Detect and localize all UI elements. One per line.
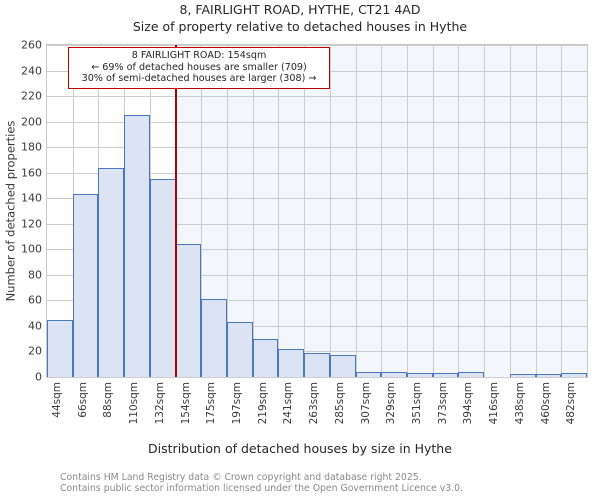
property-size-histogram: 8, FAIRLIGHT ROAD, HYTHE, CT21 4AD Size … [0, 0, 600, 500]
x-axis-title: Distribution of detached houses by size … [0, 441, 600, 456]
x-tick-label: 44sqm [51, 382, 63, 418]
property-marker-line [175, 45, 177, 377]
histogram-bar [510, 374, 536, 377]
footer-line-2: Contains public sector information licen… [60, 483, 580, 494]
footer-line-1: Contains HM Land Registry data © Crown c… [60, 472, 580, 483]
histogram-bar [253, 339, 279, 377]
chart-title-block: 8, FAIRLIGHT ROAD, HYTHE, CT21 4AD Size … [0, 2, 600, 35]
histogram-bar [561, 373, 587, 377]
histogram-bar [201, 299, 227, 377]
x-tick-label: 154sqm [180, 382, 192, 424]
histogram-bar [330, 355, 356, 377]
annotation-line-1: 8 FAIRLIGHT ROAD: 154sqm [72, 50, 326, 62]
x-tick-label: 438sqm [514, 382, 526, 424]
x-tick-label: 241sqm [282, 382, 294, 424]
x-tick-label: 197sqm [231, 382, 243, 424]
x-tick-label: 329sqm [385, 382, 397, 424]
chart-subtitle: Size of property relative to detached ho… [0, 18, 600, 35]
y-tick-label: 220 [2, 90, 42, 103]
y-tick-label: 260 [2, 39, 42, 52]
y-tick-label: 240 [2, 64, 42, 77]
x-tick-label: 175sqm [205, 382, 217, 424]
x-axis-ticks: 44sqm66sqm88sqm110sqm132sqm154sqm175sqm1… [46, 378, 588, 440]
x-tick-label: 66sqm [77, 382, 89, 418]
x-tick-label: 88sqm [102, 382, 114, 418]
y-tick-label: 160 [2, 166, 42, 179]
histogram-bar [407, 373, 433, 377]
x-tick-label: 219sqm [257, 382, 269, 424]
x-tick-label: 307sqm [360, 382, 372, 424]
x-tick-label: 416sqm [488, 382, 500, 424]
y-tick-label: 40 [2, 319, 42, 332]
annotation-line-2: ← 69% of detached houses are smaller (70… [72, 62, 326, 74]
histogram-bar [433, 373, 459, 377]
x-tick-label: 394sqm [462, 382, 474, 424]
histogram-bar [356, 372, 382, 377]
x-tick-label: 285sqm [334, 382, 346, 424]
attribution-footer: Contains HM Land Registry data © Crown c… [60, 472, 580, 494]
histogram-bar [458, 372, 484, 377]
y-axis-ticks: 020406080100120140160180200220240260 [0, 44, 42, 378]
x-tick-label: 373sqm [437, 382, 449, 424]
histogram-bar [536, 374, 562, 377]
histogram-bar [304, 353, 330, 377]
y-tick-label: 120 [2, 217, 42, 230]
x-tick-label: 351sqm [411, 382, 423, 424]
x-tick-label: 482sqm [565, 382, 577, 424]
x-tick-label: 460sqm [540, 382, 552, 424]
histogram-bar [278, 349, 304, 377]
histogram-bar [150, 179, 176, 377]
page-title: 8, FAIRLIGHT ROAD, HYTHE, CT21 4AD [0, 2, 600, 18]
property-annotation-box: 8 FAIRLIGHT ROAD: 154sqm ← 69% of detach… [68, 47, 330, 89]
y-tick-label: 180 [2, 141, 42, 154]
x-tick-label: 110sqm [128, 382, 140, 424]
y-tick-label: 20 [2, 345, 42, 358]
y-tick-label: 140 [2, 192, 42, 205]
x-tick-label: 132sqm [154, 382, 166, 424]
x-tick-label: 263sqm [308, 382, 320, 424]
histogram-bar [176, 244, 202, 377]
annotation-line-3: 30% of semi-detached houses are larger (… [72, 73, 326, 85]
histogram-bar [73, 194, 99, 377]
y-tick-label: 60 [2, 294, 42, 307]
y-tick-label: 100 [2, 243, 42, 256]
histogram-bars [47, 45, 587, 377]
histogram-bar [381, 372, 407, 377]
y-tick-label: 0 [2, 371, 42, 384]
histogram-bar [98, 168, 124, 377]
histogram-bar [47, 320, 73, 377]
y-tick-label: 80 [2, 268, 42, 281]
y-tick-label: 200 [2, 115, 42, 128]
histogram-bar [124, 115, 150, 377]
plot-area [46, 44, 588, 378]
histogram-bar [227, 322, 253, 377]
